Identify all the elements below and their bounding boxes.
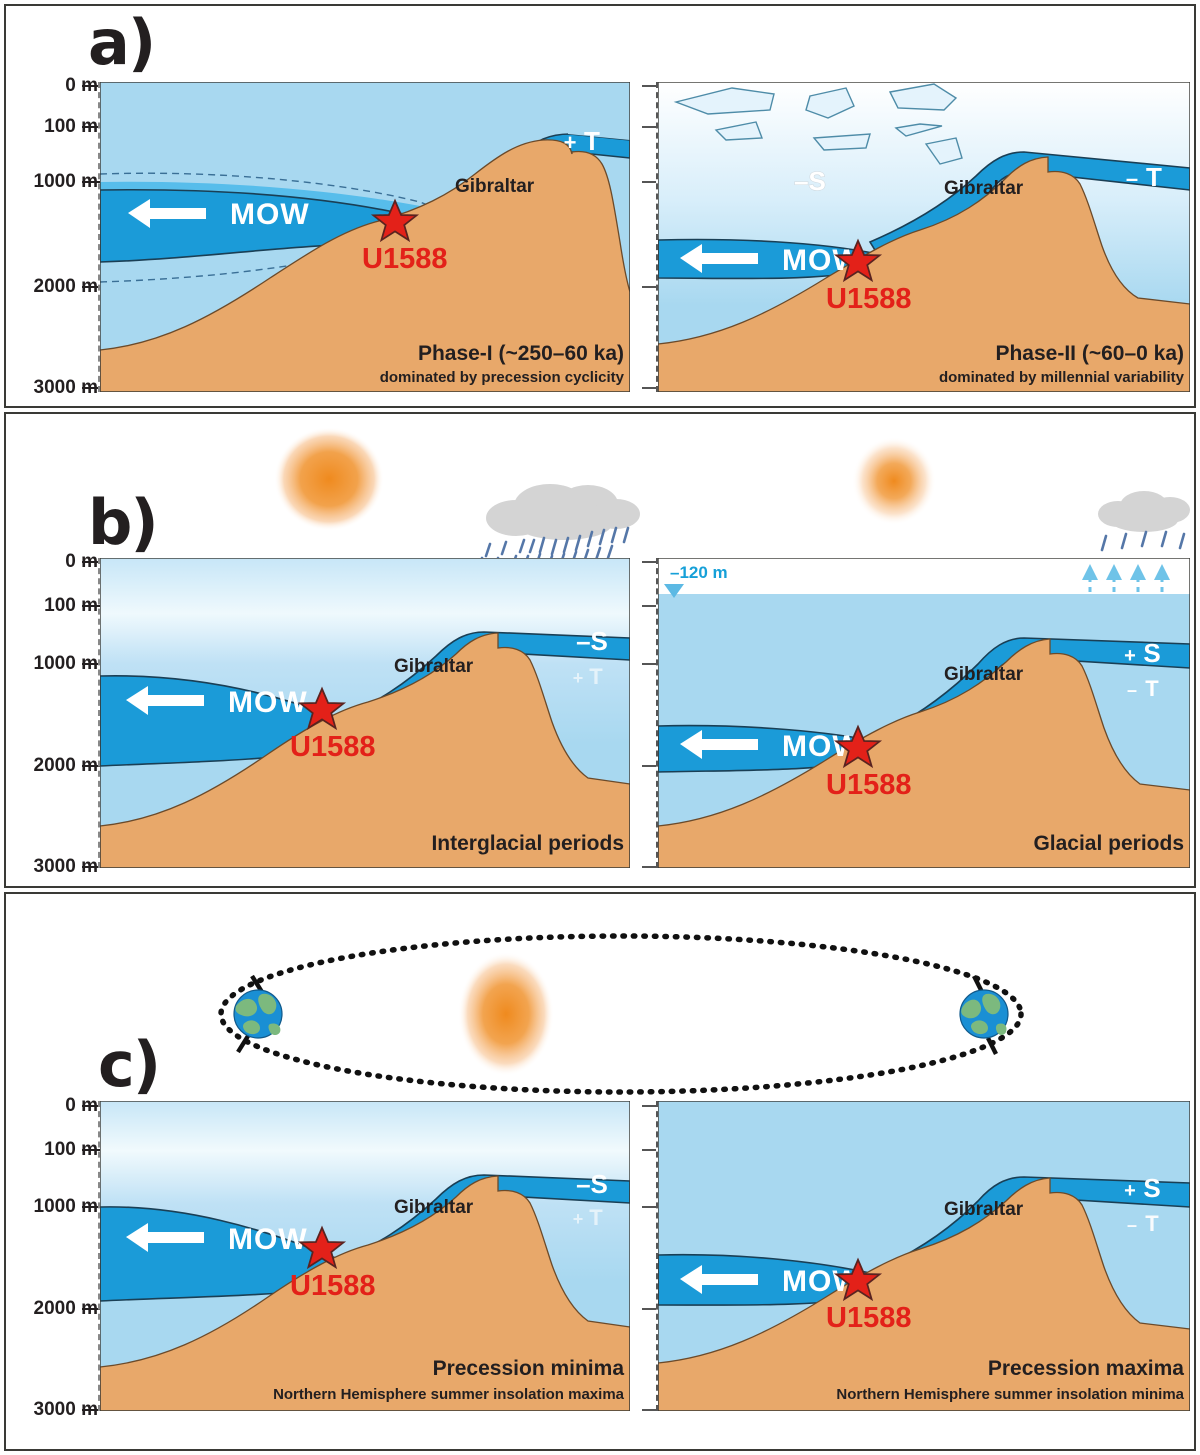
cross-section-a-left: + T MOW U1588 Gibraltar Phase-I (~250–60… [100, 82, 630, 392]
gibraltar-label: Gibraltar [394, 1197, 474, 1218]
panel-divider-dashed [98, 558, 100, 868]
caption-sub: Northern Hemisphere summer insolation ma… [273, 1386, 625, 1403]
axis-tick [642, 1206, 656, 1208]
section-c: c) [4, 892, 1196, 1451]
svg-text:+: + [564, 130, 577, 155]
svg-text:+: + [573, 668, 584, 688]
caption-main: Precession maxima [988, 1357, 1184, 1380]
caption-main: Interglacial periods [431, 832, 624, 855]
gibraltar-label: Gibraltar [944, 178, 1024, 199]
axis-tick [642, 286, 656, 288]
mow-label: MOW [228, 1223, 308, 1256]
cross-section-b-right: –120 m + S – T [658, 558, 1190, 868]
panel-divider-dashed [656, 558, 658, 868]
svg-text:S: S [1143, 638, 1160, 668]
axis-tick [642, 1308, 656, 1310]
caption-sub: dominated by millennial variability [939, 369, 1185, 386]
svg-text:T: T [589, 1205, 603, 1230]
caption-main: Phase-II (~60–0 ka) [995, 342, 1184, 365]
svg-text:S: S [1143, 1173, 1160, 1203]
panel-divider-dashed [98, 82, 100, 392]
gibraltar-label: Gibraltar [944, 664, 1024, 685]
section-b: b) [4, 412, 1196, 888]
axis-tick [642, 663, 656, 665]
site-label: U1588 [290, 731, 375, 763]
svg-text:T: T [589, 664, 603, 689]
axis-tick [642, 605, 656, 607]
axis-tick [642, 126, 656, 128]
cross-section-a-right: –S – T MOW U1588 Gibraltar Phase-II (~60… [658, 82, 1190, 392]
earth-right-icon [960, 976, 1008, 1054]
gibraltar-label: Gibraltar [394, 656, 474, 677]
panel-letter-c: c) [98, 1034, 159, 1096]
gibraltar-label: Gibraltar [944, 1199, 1024, 1220]
site-label: U1588 [290, 1270, 375, 1302]
site-label: U1588 [826, 1302, 911, 1334]
svg-text:T: T [584, 126, 600, 156]
depth-axis-b: 0 m 100 m 1000 m 2000 m 3000 m [2, 414, 98, 886]
svg-text:T: T [1145, 676, 1159, 701]
depth-axis-c: 0 m 100 m 1000 m 2000 m 3000 m [2, 894, 98, 1449]
orbit-path-dotted [221, 936, 1021, 1092]
sun-icon [458, 952, 554, 1076]
panel-letter-b: b) [88, 492, 157, 554]
cross-section-c-left: –S + T MOW U1588 Gibraltar Precession mi… [100, 1101, 630, 1411]
svg-text:T: T [1145, 1211, 1159, 1236]
caption-sub: Northern Hemisphere summer insolation mi… [836, 1386, 1184, 1403]
axis-tick [642, 387, 656, 389]
figure-root: a) 0 m 100 m 1000 m 2000 m 3000 m [0, 0, 1200, 1455]
mow-label: MOW [230, 198, 310, 231]
axis-tick [642, 1105, 656, 1107]
annotation-salinity-minus-c-left: –S [576, 1169, 608, 1199]
axis-tick [642, 765, 656, 767]
panel-divider-dashed [656, 1101, 658, 1411]
depth-axis-a: 0 m 100 m 1000 m 2000 m 3000 m [2, 6, 98, 406]
axis-tick [642, 1409, 656, 1411]
svg-text:T: T [1146, 162, 1162, 192]
caption-main: Phase-I (~250–60 ka) [418, 342, 624, 365]
svg-text:–: – [1127, 680, 1137, 700]
cross-section-b-left: –S + T MOW U1588 Gibraltar Interglacial … [100, 558, 630, 868]
site-label: U1588 [362, 243, 447, 275]
sun-large-icon [264, 424, 394, 534]
site-label: U1588 [826, 283, 911, 315]
svg-text:–: – [1127, 1215, 1137, 1235]
axis-tick [642, 561, 656, 563]
caption-main: Precession minima [433, 1357, 625, 1380]
svg-text:+: + [1124, 1180, 1136, 1202]
svg-text:+: + [573, 1209, 584, 1229]
annotation-salinity-minus-a-right: –S [794, 166, 826, 196]
axis-tick [642, 866, 656, 868]
axis-tick [642, 85, 656, 87]
site-label: U1588 [826, 769, 911, 801]
section-a: a) 0 m 100 m 1000 m 2000 m 3000 m [4, 4, 1196, 408]
sea-level-label: –120 m [670, 563, 728, 582]
sun-small-icon [834, 426, 954, 536]
orbit-diagram [156, 914, 1086, 1114]
mow-label: MOW [228, 686, 308, 719]
axis-tick [642, 1149, 656, 1151]
gibraltar-label: Gibraltar [455, 176, 535, 197]
caption-sub: dominated by precession cyclicity [380, 369, 625, 386]
panel-divider-dashed [656, 82, 658, 392]
caption-main: Glacial periods [1033, 832, 1184, 855]
annotation-salinity-minus-b-left: –S [576, 626, 608, 656]
svg-text:+: + [1124, 645, 1136, 667]
panel-divider-dashed [98, 1101, 100, 1411]
svg-text:–: – [1126, 166, 1138, 191]
axis-tick [642, 181, 656, 183]
cross-section-c-right: + S – T MOW U1588 Gibraltar Precession m… [658, 1101, 1190, 1411]
